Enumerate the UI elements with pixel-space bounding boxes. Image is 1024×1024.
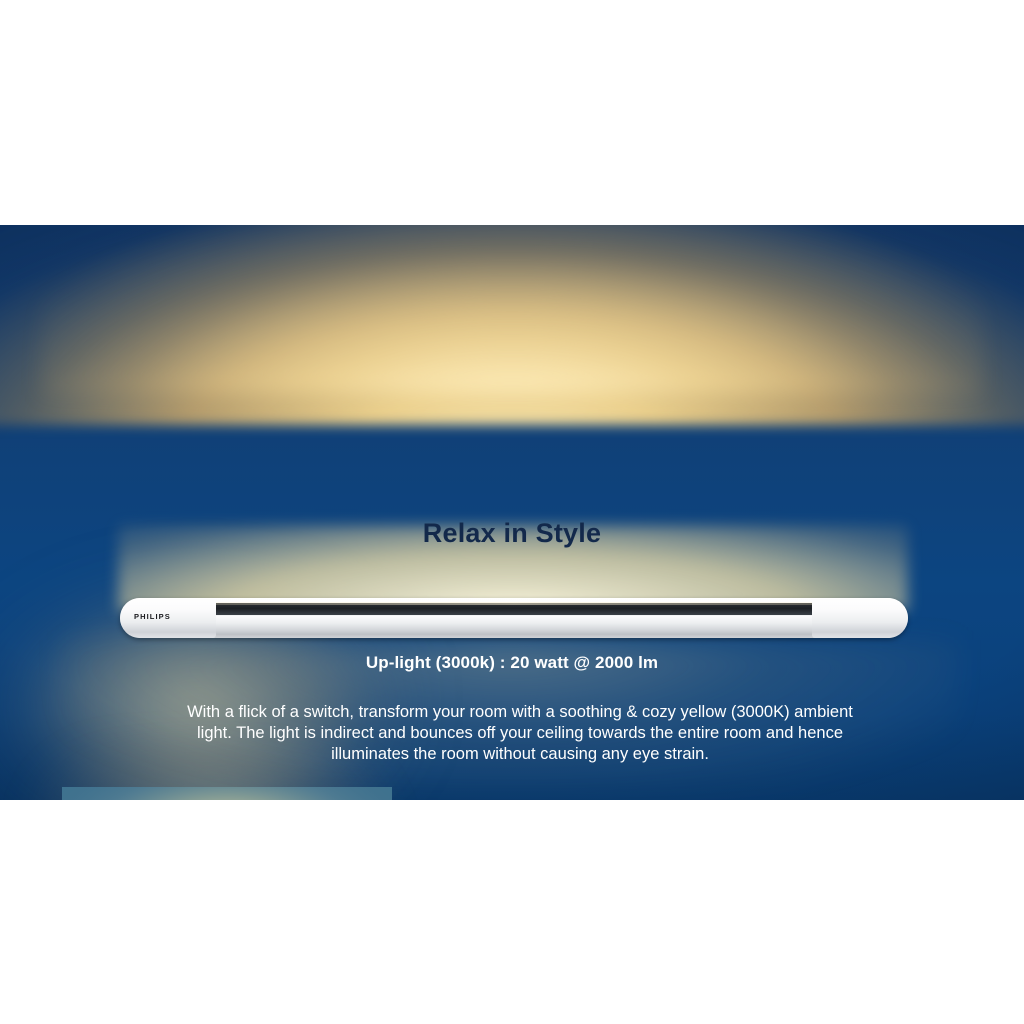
product-batten-light: PHILIPS [120, 598, 908, 638]
philips-logo: PHILIPS [134, 612, 171, 621]
living-room-illustration [62, 787, 392, 800]
batten-diffuser-face [202, 616, 826, 634]
product-spec-caption: Up-light (3000k) : 20 watt @ 2000 lm [0, 653, 1024, 673]
uplight-glow-core [40, 225, 984, 395]
banner-title: Relax in Style [0, 518, 1024, 549]
banner-description: With a flick of a switch, transform your… [182, 702, 858, 765]
batten-led-highlight [202, 602, 826, 605]
batten-end-cap-right [812, 598, 908, 638]
page-root: Relax in Style PHILIPS Up-light (3000k) … [0, 0, 1024, 1024]
scene-wall-glow [62, 787, 392, 800]
letterbox-top [0, 0, 1024, 225]
product-banner: Relax in Style PHILIPS Up-light (3000k) … [0, 225, 1024, 800]
letterbox-bottom [0, 800, 1024, 1024]
